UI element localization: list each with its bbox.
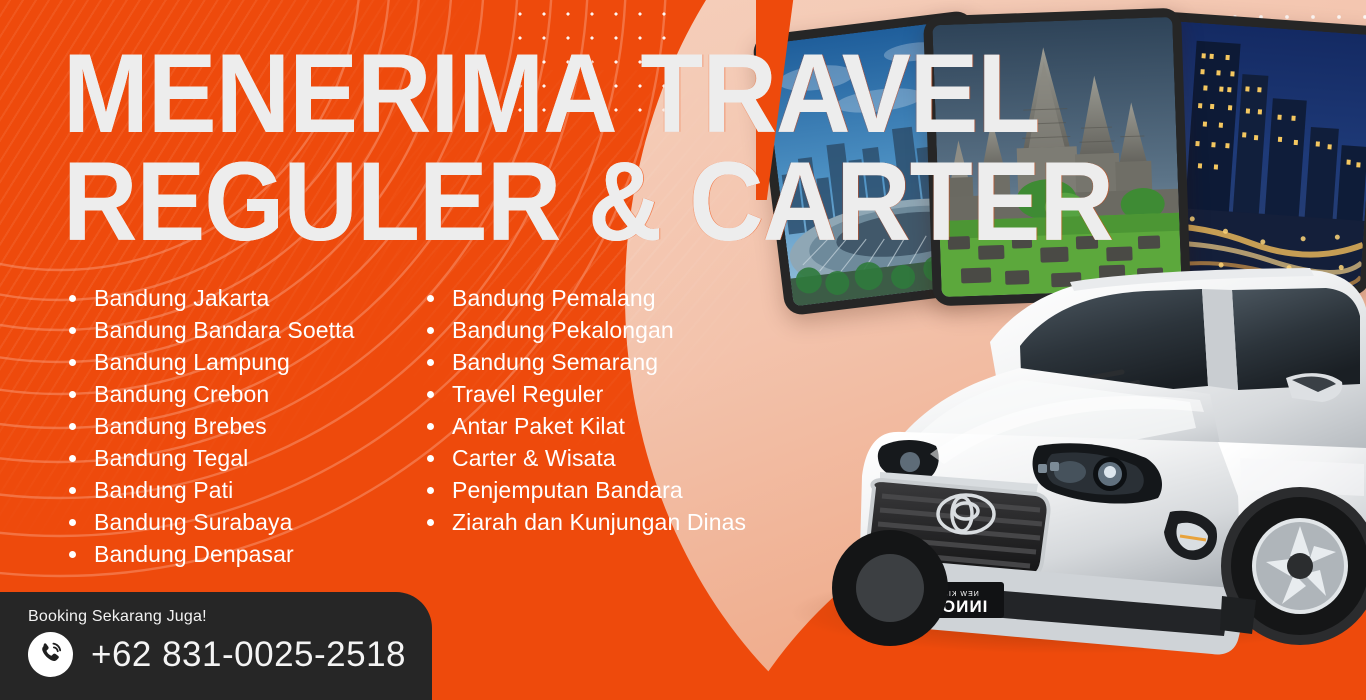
list-item-label: Bandung Tegal — [94, 445, 248, 472]
list-item: Bandung Crebon — [60, 378, 418, 410]
bullet-icon — [427, 519, 434, 526]
list-item-label: Bandung Pekalongan — [452, 317, 674, 344]
bullet-icon — [427, 423, 434, 430]
list-item-label: Carter & Wisata — [452, 445, 616, 472]
bullet-icon — [69, 423, 76, 430]
list-item: Carter & Wisata — [418, 442, 818, 474]
contact-bar: Booking Sekarang Juga! +62 831-0025-2518 — [0, 592, 432, 700]
list-item: Bandung Surabaya — [60, 506, 418, 538]
list-item-label: Bandung Pati — [94, 477, 233, 504]
bullet-icon — [69, 551, 76, 558]
bullet-icon — [69, 359, 76, 366]
list-item-label: Bandung Semarang — [452, 349, 658, 376]
phone-number[interactable]: +62 831-0025-2518 — [91, 635, 406, 675]
bullet-icon — [69, 487, 76, 494]
bullet-icon — [427, 455, 434, 462]
list-item: Antar Paket Kilat — [418, 410, 818, 442]
phone-call-icon[interactable] — [28, 632, 73, 677]
list-item: Bandung Tegal — [60, 442, 418, 474]
service-lists: Bandung Jakarta Bandung Bandara Soetta B… — [60, 282, 820, 570]
list-item-label: Bandung Brebes — [94, 413, 267, 440]
list-item-label: Bandung Jakarta — [94, 285, 269, 312]
list-item-label: Bandung Surabaya — [94, 509, 293, 536]
list-item-label: Bandung Crebon — [94, 381, 269, 408]
headline-line-1: MENERIMA TRAVEL — [63, 40, 1113, 148]
bullet-icon — [69, 295, 76, 302]
promo-banner: MENERIMA TRAVEL REGULER & CARTER Bandung… — [0, 0, 1366, 700]
list-item: Bandung Pekalongan — [418, 314, 818, 346]
list-item: Bandung Jakarta — [60, 282, 418, 314]
booking-label: Booking Sekarang Juga! — [28, 608, 432, 626]
list-item: Travel Reguler — [418, 378, 818, 410]
bullet-icon — [69, 519, 76, 526]
list-item: Bandung Lampung — [60, 346, 418, 378]
service-list-right: Bandung Pemalang Bandung Pekalongan Band… — [418, 282, 818, 570]
bullet-icon — [69, 455, 76, 462]
list-item-label: Antar Paket Kilat — [452, 413, 625, 440]
list-item: Bandung Brebes — [60, 410, 418, 442]
list-item-label: Bandung Lampung — [94, 349, 290, 376]
bullet-icon — [69, 391, 76, 398]
list-item-label: Bandung Denpasar — [94, 541, 294, 568]
toyota-kijang-innova-image: NEW KIJANG INNOVA — [770, 196, 1366, 676]
list-item-label: Ziarah dan Kunjungan Dinas — [452, 509, 746, 536]
bullet-icon — [427, 487, 434, 494]
list-item-label: Travel Reguler — [452, 381, 603, 408]
list-item-label: Penjemputan Bandara — [452, 477, 683, 504]
bullet-icon — [427, 327, 434, 334]
list-item: Ziarah dan Kunjungan Dinas — [418, 506, 818, 538]
bullet-icon — [69, 327, 76, 334]
list-item: Bandung Pemalang — [418, 282, 818, 314]
list-item: Bandung Bandara Soetta — [60, 314, 418, 346]
bullet-icon — [427, 391, 434, 398]
phone-row[interactable]: +62 831-0025-2518 — [28, 632, 432, 677]
list-item: Bandung Semarang — [418, 346, 818, 378]
list-item-label: Bandung Bandara Soetta — [94, 317, 355, 344]
list-item: Bandung Denpasar — [60, 538, 418, 570]
bullet-icon — [427, 295, 434, 302]
list-item: Penjemputan Bandara — [418, 474, 818, 506]
list-item-label: Bandung Pemalang — [452, 285, 656, 312]
list-item: Bandung Pati — [60, 474, 418, 506]
service-list-left: Bandung Jakarta Bandung Bandara Soetta B… — [60, 282, 418, 570]
bullet-icon — [427, 359, 434, 366]
